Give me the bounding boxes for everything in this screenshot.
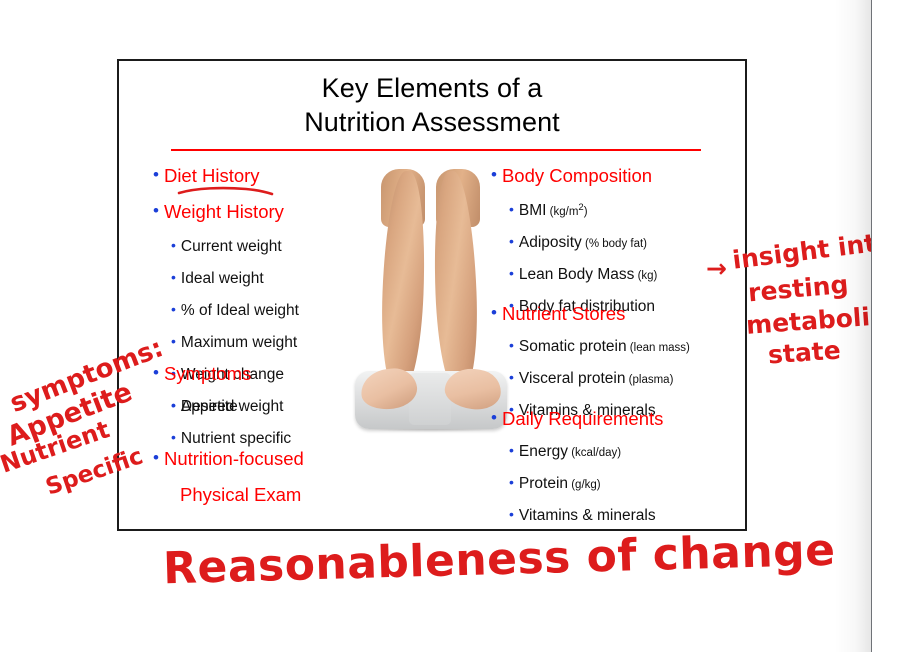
- bullet-dot-icon: •: [509, 474, 514, 490]
- right-bullet-item: •Visceral protein (plasma): [509, 369, 673, 388]
- page-edge-shadow: [818, 0, 872, 652]
- left-bullet-label: Physical Exam: [180, 484, 301, 505]
- right-bullet-item: •Daily Requirements: [491, 408, 663, 430]
- document-page: Key Elements of a Nutrition Assessment •…: [0, 0, 872, 652]
- right-bullet-label: Lean Body Mass: [519, 266, 634, 283]
- ink-right-line-4: state: [767, 336, 841, 370]
- left-bullet-label: Weight History: [164, 201, 284, 222]
- bullet-dot-icon: •: [509, 337, 514, 353]
- bullet-dot-icon: •: [509, 369, 514, 385]
- bullet-dot-icon: •: [171, 333, 176, 349]
- bullet-dot-icon: •: [171, 269, 176, 285]
- right-bullet-unit: (kg/m2): [546, 206, 587, 218]
- left-bullet-item: •Nutrient specific: [171, 429, 291, 448]
- bullet-dot-icon: •: [153, 201, 159, 221]
- bullet-dot-icon: •: [171, 237, 176, 253]
- left-bullet-item: •Weight History: [153, 201, 284, 223]
- right-bullet-item: •Protein (g/kg): [509, 474, 601, 493]
- left-bullet-label: Nutrition-focused: [164, 448, 304, 469]
- right-bullet-item: •Vitamins & minerals: [509, 506, 656, 525]
- right-bullet-unit: (lean mass): [627, 342, 690, 354]
- right-bullet-item: •Energy (kcal/day): [509, 442, 621, 461]
- right-bullet-label: Vitamins & minerals: [519, 507, 656, 524]
- right-bullet-unit: (% body fat): [582, 238, 647, 250]
- ink-annotation-bottom: Reasonableness of change: [162, 525, 836, 595]
- bullet-dot-icon: •: [491, 408, 497, 428]
- left-bullet-label: Maximum weight: [181, 334, 297, 351]
- left-bullet-item: •% of Ideal weight: [171, 301, 299, 320]
- right-bullet-item: •Somatic protein (lean mass): [509, 337, 690, 356]
- bullet-dot-icon: •: [509, 506, 514, 522]
- bullet-dot-icon: •: [509, 265, 514, 281]
- right-bullet-label: Adiposity: [519, 234, 582, 251]
- bullet-dot-icon: •: [509, 233, 514, 249]
- bullet-dot-icon: •: [171, 301, 176, 317]
- right-bullet-unit: (kcal/day): [568, 447, 621, 459]
- ink-right-line-3: metabolic: [745, 301, 872, 340]
- left-bullet-item: •Symptoms: [153, 363, 251, 385]
- bullet-dot-icon: •: [153, 363, 159, 383]
- right-bullet-item: •Nutrient Stores: [491, 303, 625, 325]
- left-bullet-label: Nutrient specific: [181, 430, 291, 447]
- left-bullet-label: Appetite: [181, 398, 238, 415]
- right-bullet-item: •Adiposity (% body fat): [509, 233, 647, 252]
- bullet-dot-icon: •: [171, 397, 176, 413]
- left-bullet-label: Symptoms: [164, 363, 251, 384]
- title-line-2: Nutrition Assessment: [119, 105, 745, 139]
- right-bullet-unit: (plasma): [625, 374, 673, 386]
- left-bullet-item: •Diet History: [153, 165, 260, 187]
- bullet-dot-icon: •: [171, 429, 176, 445]
- left-bullet-label: % of Ideal weight: [181, 302, 299, 319]
- left-bullet-item: •Ideal weight: [171, 269, 264, 288]
- right-bullet-label: Visceral protein: [519, 370, 626, 387]
- bullet-dot-icon: •: [153, 165, 159, 185]
- presentation-slide: Key Elements of a Nutrition Assessment •…: [117, 59, 747, 531]
- right-bullet-label: Protein: [519, 475, 568, 492]
- left-bullet-item: •Current weight: [171, 237, 282, 256]
- right-bullet-label: Daily Requirements: [502, 408, 663, 429]
- right-bullet-item: •Body Composition: [491, 165, 652, 187]
- right-bullet-unit: (kg): [634, 270, 657, 282]
- bullet-dot-icon: •: [491, 165, 497, 185]
- bullet-dot-icon: •: [509, 201, 514, 217]
- bullet-dot-icon: •: [509, 442, 514, 458]
- right-bullet-unit: (g/kg): [568, 479, 601, 491]
- ink-left-line-3: Nutrient: [0, 415, 113, 478]
- page-title: Key Elements of a Nutrition Assessment: [119, 71, 745, 139]
- title-divider-rule: [171, 149, 701, 151]
- ink-underline-diet-history: [178, 186, 274, 196]
- page-right-border: [871, 0, 872, 652]
- left-bullet-label: Ideal weight: [181, 270, 264, 287]
- bullet-dot-icon: •: [491, 303, 497, 323]
- right-bullet-label: Somatic protein: [519, 338, 627, 355]
- bullet-dot-icon: •: [153, 448, 159, 468]
- scale-photo: [347, 171, 515, 433]
- left-bullet-label: Diet History: [164, 165, 260, 186]
- ink-right-line-2: resting: [747, 270, 850, 308]
- left-bullet-label: Current weight: [181, 238, 282, 255]
- right-bullet-label: Energy: [519, 443, 568, 460]
- left-bullet-item: •Maximum weight: [171, 333, 297, 352]
- right-bullet-label: BMI: [519, 202, 547, 219]
- right-bullet-label: Body Composition: [502, 165, 652, 186]
- left-bullet-item: •Appetite: [171, 397, 238, 416]
- ink-right-line-1: insight into: [731, 226, 872, 274]
- left-bullet-item: •Nutrition-focused: [153, 448, 304, 470]
- right-bullet-item: •Lean Body Mass (kg): [509, 265, 657, 284]
- title-line-1: Key Elements of a: [119, 71, 745, 105]
- right-bullet-item: •BMI (kg/m2): [509, 201, 588, 220]
- right-bullet-label: Nutrient Stores: [502, 303, 625, 324]
- left-bullet-item: Physical Exam: [180, 484, 301, 506]
